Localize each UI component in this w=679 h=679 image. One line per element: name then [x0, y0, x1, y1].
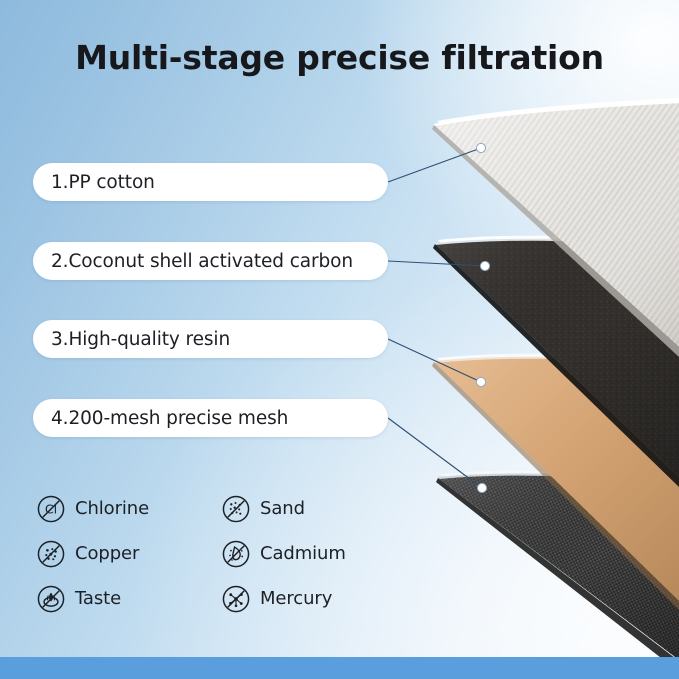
layer-callout-label: 1.PP cotton — [51, 172, 155, 193]
contaminant-item-sand: Sand — [221, 486, 406, 531]
layer-callout-activated-carbon[interactable]: 2.Coconut shell activated carbon — [33, 242, 388, 280]
contaminant-label: Cadmium — [260, 543, 346, 564]
contaminant-label: Sand — [260, 498, 305, 519]
bottom-accent-band — [0, 657, 679, 679]
contaminant-item-chlorine: Cl Chlorine — [36, 486, 221, 531]
layer-callout-label: 3.High-quality resin — [51, 329, 230, 350]
layer-callout-pp-cotton[interactable]: 1.PP cotton — [33, 163, 388, 201]
contaminant-label: Chlorine — [75, 498, 149, 519]
contaminant-item-taste: Taste — [36, 576, 221, 621]
contaminant-list: Cl Chlorine — [36, 486, 436, 621]
contaminant-item-copper: Copper — [36, 531, 221, 576]
contaminant-item-cadmium: Cadmium — [221, 531, 406, 576]
layer-callout-precise-mesh[interactable]: 4.200-mesh precise mesh — [33, 399, 388, 437]
no-chlorine-icon: Cl — [36, 494, 66, 524]
no-taste-icon — [36, 584, 66, 614]
contaminant-label: Mercury — [260, 588, 332, 609]
contaminant-label: Copper — [75, 543, 139, 564]
page-title: Multi-stage precise filtration — [0, 38, 679, 77]
no-mercury-icon — [221, 584, 251, 614]
filtration-infographic: Multi-stage precise filtration 1.PP cott… — [0, 0, 679, 679]
no-copper-icon — [36, 539, 66, 569]
no-cadmium-icon — [221, 539, 251, 569]
layer-callout-resin[interactable]: 3.High-quality resin — [33, 320, 388, 358]
contaminant-item-mercury: Mercury — [221, 576, 406, 621]
no-sand-icon — [221, 494, 251, 524]
layer-callout-label: 2.Coconut shell activated carbon — [51, 251, 353, 272]
contaminant-label: Taste — [75, 588, 121, 609]
layer-callout-label: 4.200-mesh precise mesh — [51, 408, 288, 429]
